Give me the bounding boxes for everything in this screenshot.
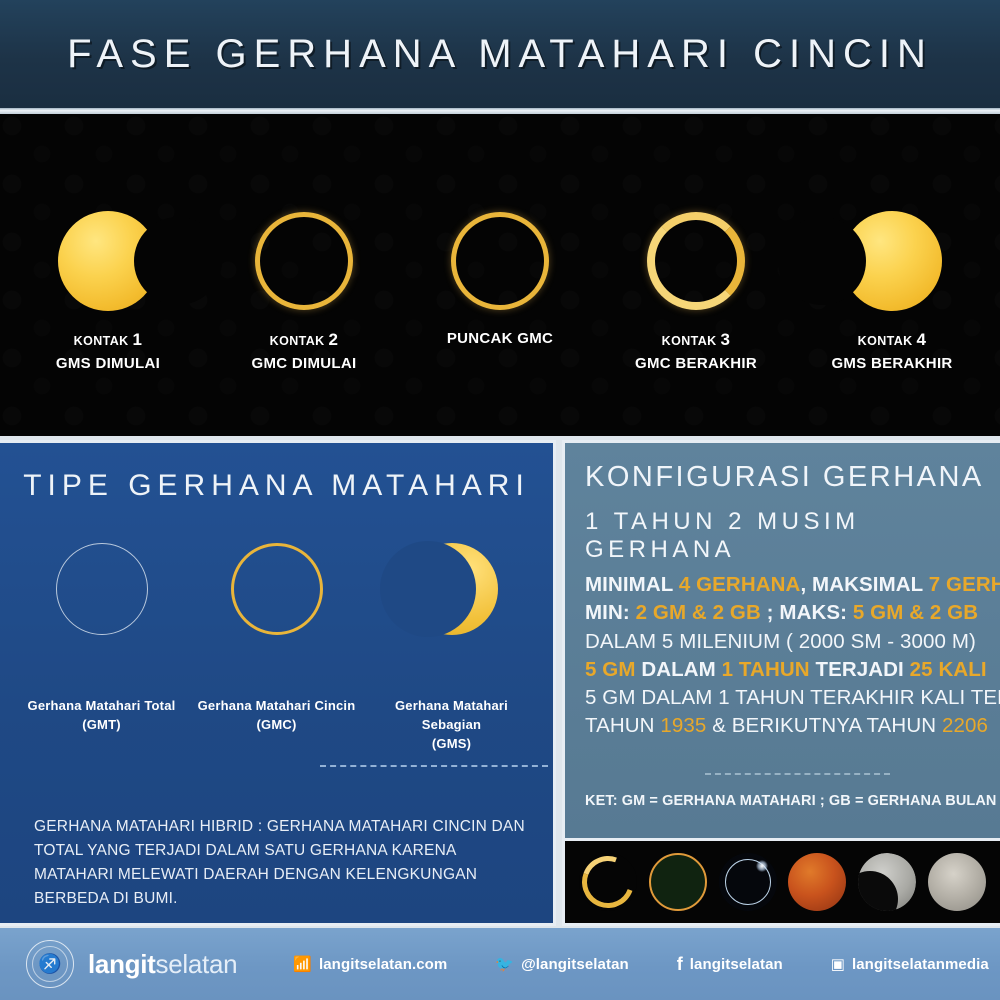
phase-caption: KONTAK 2 GMC DIMULAI [252,329,357,374]
brand-light: selatan [156,949,238,979]
annular-ring-offset-icon [644,209,748,313]
instagram-icon: ▣ [831,955,845,973]
phase-caption: KONTAK 1 GMS DIMULAI [56,329,160,374]
configuration-title: KONFIGURASI GERHANA [585,461,1000,494]
footer-link-label: @langitselatan [521,956,629,973]
partial-lunar-photo [858,853,916,911]
kontak-number: 2 [328,330,338,349]
highlight-segment: 2 GM & 2 GB [636,601,761,624]
configuration-lines: 1 TAHUN 2 MUSIM GERHANA MINIMAL 4 GERHAN… [585,508,1000,741]
gold-ring-icon [229,541,325,637]
phase-description: GMC DIMULAI [252,354,357,374]
type-name: Gerhana Matahari Total [28,697,176,716]
gold-crescent-icon [404,541,500,637]
highlight-segment: 25 KALI [910,658,987,681]
type-abbr: (GMT) [28,716,176,735]
kontak-number: 1 [132,330,142,349]
blood-moon-photo [788,853,846,911]
right-panel-divider [705,773,890,775]
facebook-icon: f [677,954,683,975]
text-segment: TAHUN [585,714,660,737]
eclipse-phases-section: KONTAK 1 GMS DIMULAI KONTAK 2 GMC DIMULA… [0,114,1000,436]
sun-bite-left-icon [840,209,944,313]
config-line-min-maks: MIN: 2 GM & 2 GB ; MAKS: 5 GM & 2 GB [585,599,1000,627]
footer-link-facebook[interactable]: f langitselatan [677,954,783,975]
kontak-label: KONTAK 3 [635,329,757,351]
eclipse-types-title: TIPE GERHANA MATAHARI [0,469,553,503]
diamond-ring-photo [719,853,777,911]
type-name: Gerhana Matahari Cincin [198,697,356,716]
footer-link-twitter[interactable]: 🐦 @langitselatan [495,955,628,973]
kontak-label: KONTAK 4 [831,329,952,351]
phase-caption: KONTAK 4 GMS BERAKHIR [831,329,952,374]
text-segment: MINIMAL [585,573,679,596]
config-line-minimal: MINIMAL 4 GERHANA, MAKSIMAL 7 GERHANA [585,571,1000,599]
footer-link-instagram[interactable]: ▣ langitselatanmedia [831,955,989,973]
phase-description: PUNCAK GMC [447,329,553,349]
annular-ring-photo [649,853,707,911]
annular-ring-thin-icon [252,209,356,313]
footer-link-label: langitselatan [690,956,783,973]
phase-caption: PUNCAK GMC [447,329,553,349]
text-segment: , MAKSIMAL [800,573,928,596]
sun-bite-right-icon [56,209,160,313]
kontak-number: 3 [720,330,730,349]
phase-description: GMS BERAKHIR [831,354,952,374]
type-abbr: (GMS) [368,735,536,754]
footer-bar: ♐ langitselatan 📶 langitselatan.com 🐦 @l… [0,928,1000,1000]
kontak-label: KONTAK 1 [56,329,160,351]
text-segment: & BERIKUTNYA TAHUN [706,714,942,737]
phase-item-kontak-1: KONTAK 1 GMS DIMULAI [15,209,201,374]
brand-bold: langit [88,949,156,979]
footer-link-website[interactable]: 📶 langitselatan.com [293,955,447,973]
legend-note: KET: GM = GERHANA MATAHARI ; GB = GERHAN… [585,793,997,809]
twitter-icon: 🐦 [495,955,514,973]
footer-link-label: langitselatanmedia [852,956,989,973]
text-segment: ; MAKS: [761,601,853,624]
config-line-terakhir-1: 5 GM DALAM 1 TAHUN TERAKHIR KALI TERJADI [585,684,1000,712]
type-item-gmc: Gerhana Matahari Cincin (GMC) [193,541,361,735]
rss-icon: 📶 [293,955,312,973]
highlight-segment: 5 GM [585,658,636,681]
annular-crescent-photo [579,853,637,911]
infographic-page: FASE GERHANA MATAHARI CINCIN KONTAK 1 GM… [0,0,1000,1000]
kontak-label: KONTAK 2 [252,329,357,351]
highlight-segment: 1935 [660,714,706,737]
type-label-gmt: Gerhana Matahari Total (GMT) [28,697,176,735]
highlight-segment: 5 GM & 2 GB [853,601,978,624]
eclipse-photo-strip [562,838,1000,926]
type-abbr: (GMC) [198,716,356,735]
highlight-segment: 7 GERHANA [929,573,1000,596]
langitselatan-logo-icon: ♐ [26,940,74,988]
annular-ring-even-icon [448,209,552,313]
phase-description: GMC BERAKHIR [635,354,757,374]
text-segment: TERJADI [810,658,910,681]
phase-row: KONTAK 1 GMS DIMULAI KONTAK 2 GMC DIMULA… [0,114,1000,436]
full-moon-photo [928,853,986,911]
eclipse-types-row: Gerhana Matahari Total (GMT) Gerhana Mat… [0,541,553,754]
circle-outline-icon [54,541,150,637]
footer-link-label: langitselatan.com [319,956,447,973]
highlight-segment: 1 TAHUN [722,658,810,681]
eclipse-types-panel: TIPE GERHANA MATAHARI Gerhana Matahari T… [0,440,556,926]
phase-description: GMS DIMULAI [56,354,160,374]
left-panel-divider [320,765,548,767]
highlight-segment: 2206 [942,714,988,737]
text-segment: MIN: [585,601,636,624]
header-banner: FASE GERHANA MATAHARI CINCIN [0,0,1000,108]
config-line-5gm: 5 GM DALAM 1 TAHUN TERJADI 25 KALI [585,656,1000,684]
type-item-gmt: Gerhana Matahari Total (GMT) [18,541,186,735]
highlight-segment: 4 GERHANA [679,573,801,596]
page-title: FASE GERHANA MATAHARI CINCIN [67,32,933,77]
phase-item-kontak-4: KONTAK 4 GMS BERAKHIR [799,209,985,374]
config-headline: 1 TAHUN 2 MUSIM GERHANA [585,508,1000,564]
type-label-gmc: Gerhana Matahari Cincin (GMC) [198,697,356,735]
eclipse-configuration-panel: KONFIGURASI GERHANA 1 TAHUN 2 MUSIM GERH… [562,440,1000,838]
text-segment: DALAM [636,658,722,681]
phase-item-kontak-2: KONTAK 2 GMC DIMULAI [211,209,397,374]
phase-item-puncak: PUNCAK GMC [407,209,593,349]
config-line-milenium: DALAM 5 MILENIUM ( 2000 SM - 3000 M) [585,628,1000,656]
type-name: Gerhana Matahari Sebagian [368,697,536,735]
kontak-number: 4 [916,330,926,349]
phase-caption: KONTAK 3 GMC BERAKHIR [635,329,757,374]
phase-item-kontak-3: KONTAK 3 GMC BERAKHIR [603,209,789,374]
type-item-gms: Gerhana Matahari Sebagian (GMS) [368,541,536,754]
hybrid-eclipse-note: GERHANA MATAHARI HIBRID : GERHANA MATAHA… [34,815,533,911]
brand-wordmark: langitselatan [88,949,237,980]
config-line-terakhir-2: TAHUN 1935 & BERIKUTNYA TAHUN 2206 [585,712,1000,740]
type-label-gms: Gerhana Matahari Sebagian (GMS) [368,697,536,754]
